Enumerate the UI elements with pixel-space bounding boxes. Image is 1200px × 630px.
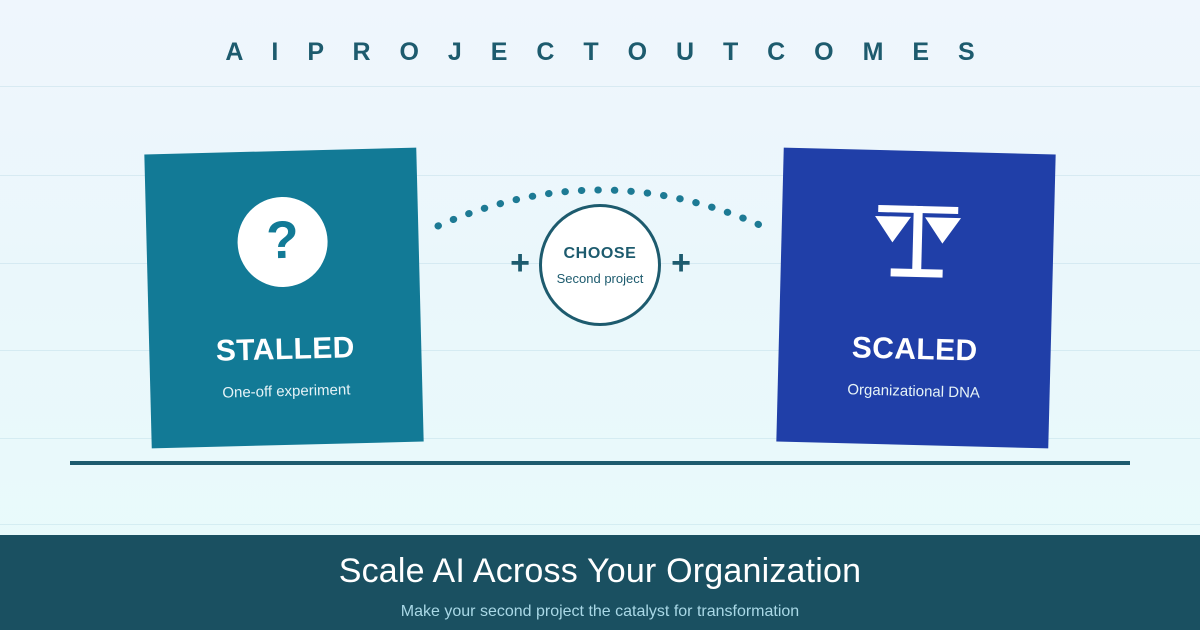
footer-banner: Scale AI Across Your Organization Make y… xyxy=(0,535,1200,630)
banner-headline: Scale AI Across Your Organization xyxy=(339,552,862,591)
background-gridline xyxy=(0,524,1200,525)
scaled-card-subtitle: Organizational DNA xyxy=(847,381,980,401)
question-mark-glyph: ? xyxy=(236,196,328,288)
stalled-card-title: STALLED xyxy=(215,331,355,369)
choose-node-subtitle: Second project xyxy=(557,271,644,286)
banner-subheadline: Make your second project the catalyst fo… xyxy=(401,603,799,621)
question-mark-icon: ? xyxy=(236,195,328,289)
outcome-card-scaled[interactable]: SCALED Organizational DNA xyxy=(776,148,1055,449)
stalled-card-subtitle: One-off experiment xyxy=(222,381,351,401)
plus-icon-left: + xyxy=(504,248,536,280)
infographic-canvas: A I P R O J E C T O U T C O M E S ? STAL… xyxy=(0,0,1200,630)
outcome-card-stalled[interactable]: ? STALLED One-off experiment xyxy=(144,148,423,449)
page-title: A I P R O J E C T O U T C O M E S xyxy=(0,38,1200,67)
ground-divider xyxy=(70,461,1130,465)
choose-node-title: CHOOSE xyxy=(564,245,637,263)
choose-node[interactable]: CHOOSE Second project xyxy=(539,204,661,326)
scaled-card-title: SCALED xyxy=(851,331,978,368)
balance-scales-glyph xyxy=(870,197,964,287)
background-gridline xyxy=(0,86,1200,87)
balance-scales-icon xyxy=(870,195,964,289)
plus-icon-right: + xyxy=(665,248,697,280)
